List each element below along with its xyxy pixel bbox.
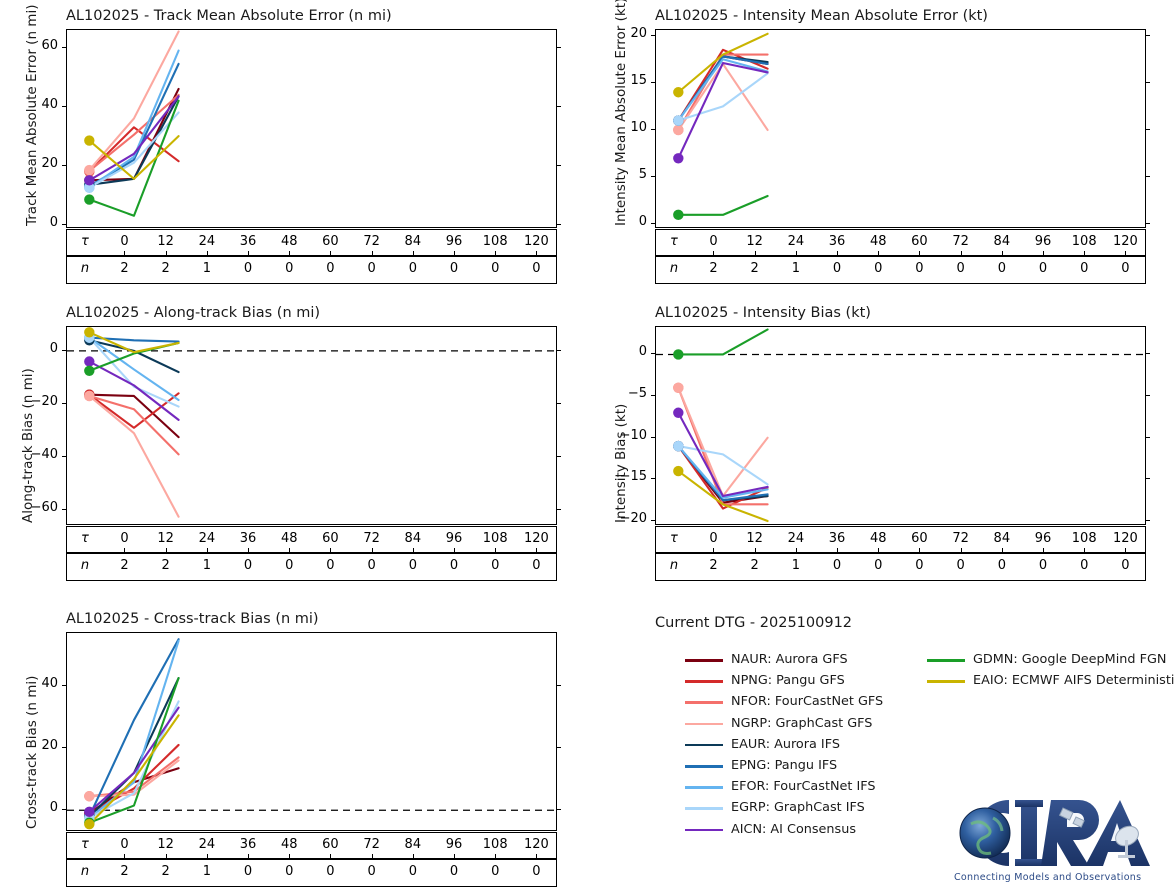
ylabel-intensity-bias: Intensity Bias (kt) xyxy=(613,404,629,523)
series-line-GDMN xyxy=(678,329,767,354)
legend-color-swatch-naur xyxy=(685,659,723,662)
ytick-mark-right xyxy=(1145,437,1150,438)
legend-color-swatch-eaio xyxy=(927,680,965,683)
ytick-mark-right xyxy=(556,47,561,48)
ytick-label-track_mae-3: 60 xyxy=(20,38,58,53)
ytick-mark xyxy=(62,165,67,166)
cira-logo-tagline: Connecting Models and Observations xyxy=(954,872,1141,883)
panel-title-intensity-mae: AL102025 - Intensity Mean Absolute Error… xyxy=(655,8,988,24)
ytick-mark-right xyxy=(556,685,561,686)
ytick-label-intensity_mae-1: 5 xyxy=(609,167,647,182)
ytick-label-intensity_bias-3: −15 xyxy=(609,469,647,484)
legend-color-swatch-gdmn xyxy=(927,659,965,662)
panel-title-intensity-bias: AL102025 - Intensity Bias (kt) xyxy=(655,305,871,321)
ytick-label-track_mae-2: 40 xyxy=(20,97,58,112)
ytick-mark xyxy=(651,520,656,521)
series-marker-EAIO xyxy=(84,327,94,337)
ytick-mark xyxy=(62,685,67,686)
series-marker-EGRP xyxy=(673,115,683,125)
tau-tick-label-10: 120 xyxy=(510,531,562,546)
data-lines-intensity_bias xyxy=(656,327,1146,525)
tau-tick-label-10: 120 xyxy=(1099,234,1151,249)
ytick-mark-right xyxy=(1145,82,1150,83)
plot-area-intensity_bias xyxy=(655,326,1146,525)
ytick-label-track_mae-0: 0 xyxy=(20,215,58,230)
panel-title-cross-track-bias: AL102025 - Cross-track Bias (n mi) xyxy=(66,611,319,627)
series-marker-NGRP xyxy=(84,791,94,801)
ytick-mark-right xyxy=(1145,129,1150,130)
series-marker-NGRP xyxy=(673,125,683,135)
n-count-label-10: 0 xyxy=(510,558,562,573)
panel-title-track-mae: AL102025 - Track Mean Absolute Error (n … xyxy=(66,8,392,24)
legend-color-swatch-npng xyxy=(685,680,723,683)
ytick-mark-right xyxy=(1145,478,1150,479)
legend-color-swatch-egrp xyxy=(685,807,723,810)
ytick-mark xyxy=(62,403,67,404)
tau-tick-label-10: 120 xyxy=(510,837,562,852)
legend-label-aicn: AICN: AI Consensus xyxy=(731,822,856,838)
ytick-mark-right xyxy=(1145,176,1150,177)
n-count-label-10: 0 xyxy=(1099,558,1151,573)
series-line-GDMN xyxy=(678,196,767,215)
plot-area-track_mae xyxy=(66,29,557,228)
cira-logo-mark xyxy=(945,790,1160,885)
tau-tick-label-10: 120 xyxy=(1099,531,1151,546)
series-line-AICN xyxy=(89,96,178,180)
ytick-mark xyxy=(62,224,67,225)
ytick-label-cross_track_bias-2: 40 xyxy=(20,676,58,691)
series-marker-AICN xyxy=(673,153,683,163)
legend-label-nfor: NFOR: FourCastNet GFS xyxy=(731,694,883,710)
legend-color-swatch-efor xyxy=(685,786,723,789)
legend-label-efor: EFOR: FourCastNet IFS xyxy=(731,779,876,795)
ytick-mark xyxy=(62,106,67,107)
ytick-label-along_track_bias-3: −60 xyxy=(20,500,58,515)
tau-tick-label-10: 120 xyxy=(510,234,562,249)
legend-color-swatch-epng xyxy=(685,765,723,768)
series-marker-EAIO xyxy=(84,819,94,829)
ytick-mark xyxy=(651,129,656,130)
series-marker-EAIO xyxy=(673,466,683,476)
series-marker-NGRP xyxy=(673,383,683,393)
series-line-NFOR xyxy=(89,757,178,796)
ytick-mark xyxy=(651,437,656,438)
ytick-mark-right xyxy=(556,747,561,748)
series-marker-GDMN xyxy=(673,349,683,359)
ytick-label-intensity_mae-2: 10 xyxy=(609,120,647,135)
figure-root: AL102025 - Track Mean Absolute Error (n … xyxy=(0,0,1174,894)
ytick-mark xyxy=(62,509,67,510)
ytick-label-intensity_mae-3: 15 xyxy=(609,73,647,88)
series-line-NGRP xyxy=(678,64,767,130)
legend-label-ngrp: NGRP: GraphCast GFS xyxy=(731,716,872,732)
ytick-mark xyxy=(62,747,67,748)
ytick-mark-right xyxy=(556,350,561,351)
panel-title-along-track-bias: AL102025 - Along-track Bias (n mi) xyxy=(66,305,320,321)
ytick-mark-right xyxy=(556,106,561,107)
series-marker-GDMN xyxy=(673,210,683,220)
ytick-label-intensity_bias-4: −20 xyxy=(609,511,647,526)
data-lines-intensity_mae xyxy=(656,30,1146,228)
series-marker-AICN xyxy=(84,175,94,185)
ytick-label-intensity_bias-0: 0 xyxy=(609,344,647,359)
series-marker-EAIO xyxy=(84,135,94,145)
ytick-mark-right xyxy=(556,224,561,225)
series-line-NGRP xyxy=(89,396,178,517)
ytick-mark xyxy=(651,35,656,36)
n-count-label-10: 0 xyxy=(510,864,562,879)
n-count-label-10: 0 xyxy=(1099,261,1151,276)
plot-area-cross_track_bias xyxy=(66,632,557,831)
n-count-label-10: 0 xyxy=(510,261,562,276)
ytick-label-intensity_mae-0: 0 xyxy=(609,214,647,229)
ytick-mark-right xyxy=(556,809,561,810)
ytick-mark xyxy=(62,809,67,810)
ytick-label-cross_track_bias-1: 20 xyxy=(20,738,58,753)
series-marker-NGRP xyxy=(84,165,94,175)
legend-label-eaio: EAIO: ECMWF AIFS Deterministic xyxy=(973,673,1174,689)
series-marker-AICN xyxy=(673,408,683,418)
series-line-EAIO xyxy=(89,332,178,352)
ytick-mark xyxy=(651,478,656,479)
series-marker-AICN xyxy=(84,356,94,366)
ytick-mark-right xyxy=(556,165,561,166)
ytick-mark xyxy=(651,395,656,396)
ytick-label-along_track_bias-0: 0 xyxy=(20,341,58,356)
ytick-mark-right xyxy=(1145,520,1150,521)
legend-label-epng: EPNG: Pangu IFS xyxy=(731,758,837,774)
series-marker-EGRP xyxy=(673,441,683,451)
ytick-label-intensity_mae-4: 20 xyxy=(609,26,647,41)
ytick-mark xyxy=(62,456,67,457)
cira-logo xyxy=(945,790,1160,885)
legend-label-eaur: EAUR: Aurora IFS xyxy=(731,737,840,753)
series-line-NFOR xyxy=(678,388,767,505)
ytick-mark-right xyxy=(1145,35,1150,36)
legend-color-swatch-eaur xyxy=(685,744,723,747)
ytick-mark-right xyxy=(556,509,561,510)
data-lines-along_track_bias xyxy=(67,327,557,525)
series-marker-EAIO xyxy=(673,87,683,97)
ytick-mark xyxy=(651,223,656,224)
legend-color-swatch-aicn xyxy=(685,829,723,832)
ytick-label-intensity_bias-2: −10 xyxy=(609,428,647,443)
ytick-mark xyxy=(651,353,656,354)
ytick-mark-right xyxy=(1145,223,1150,224)
ytick-label-track_mae-1: 20 xyxy=(20,156,58,171)
ytick-mark-right xyxy=(1145,353,1150,354)
ytick-mark xyxy=(62,350,67,351)
legend-label-gdmn: GDMN: Google DeepMind FGN xyxy=(973,652,1166,668)
ytick-mark-right xyxy=(556,403,561,404)
plot-area-along_track_bias xyxy=(66,326,557,525)
legend-color-swatch-ngrp xyxy=(685,723,723,726)
legend-label-naur: NAUR: Aurora GFS xyxy=(731,652,848,668)
ytick-label-along_track_bias-2: −40 xyxy=(20,447,58,462)
series-marker-GDMN xyxy=(84,366,94,376)
legend-label-npng: NPNG: Pangu GFS xyxy=(731,673,845,689)
series-marker-NGRP xyxy=(84,391,94,401)
ytick-mark xyxy=(62,47,67,48)
ytick-mark xyxy=(651,176,656,177)
data-lines-track_mae xyxy=(67,30,557,228)
series-marker-GDMN xyxy=(84,194,94,204)
current-dtg-label: Current DTG - 2025100912 xyxy=(655,615,852,631)
ytick-mark-right xyxy=(556,456,561,457)
ytick-label-intensity_bias-1: −5 xyxy=(609,386,647,401)
plot-area-intensity_mae xyxy=(655,29,1146,228)
series-marker-AICN xyxy=(84,807,94,817)
ytick-mark-right xyxy=(1145,395,1150,396)
legend-label-egrp: EGRP: GraphCast IFS xyxy=(731,800,865,816)
ytick-label-along_track_bias-1: −20 xyxy=(20,394,58,409)
ytick-label-cross_track_bias-0: 0 xyxy=(20,800,58,815)
data-lines-cross_track_bias xyxy=(67,633,557,831)
ytick-mark xyxy=(651,82,656,83)
legend-color-swatch-nfor xyxy=(685,701,723,704)
series-line-NFOR xyxy=(678,55,767,130)
